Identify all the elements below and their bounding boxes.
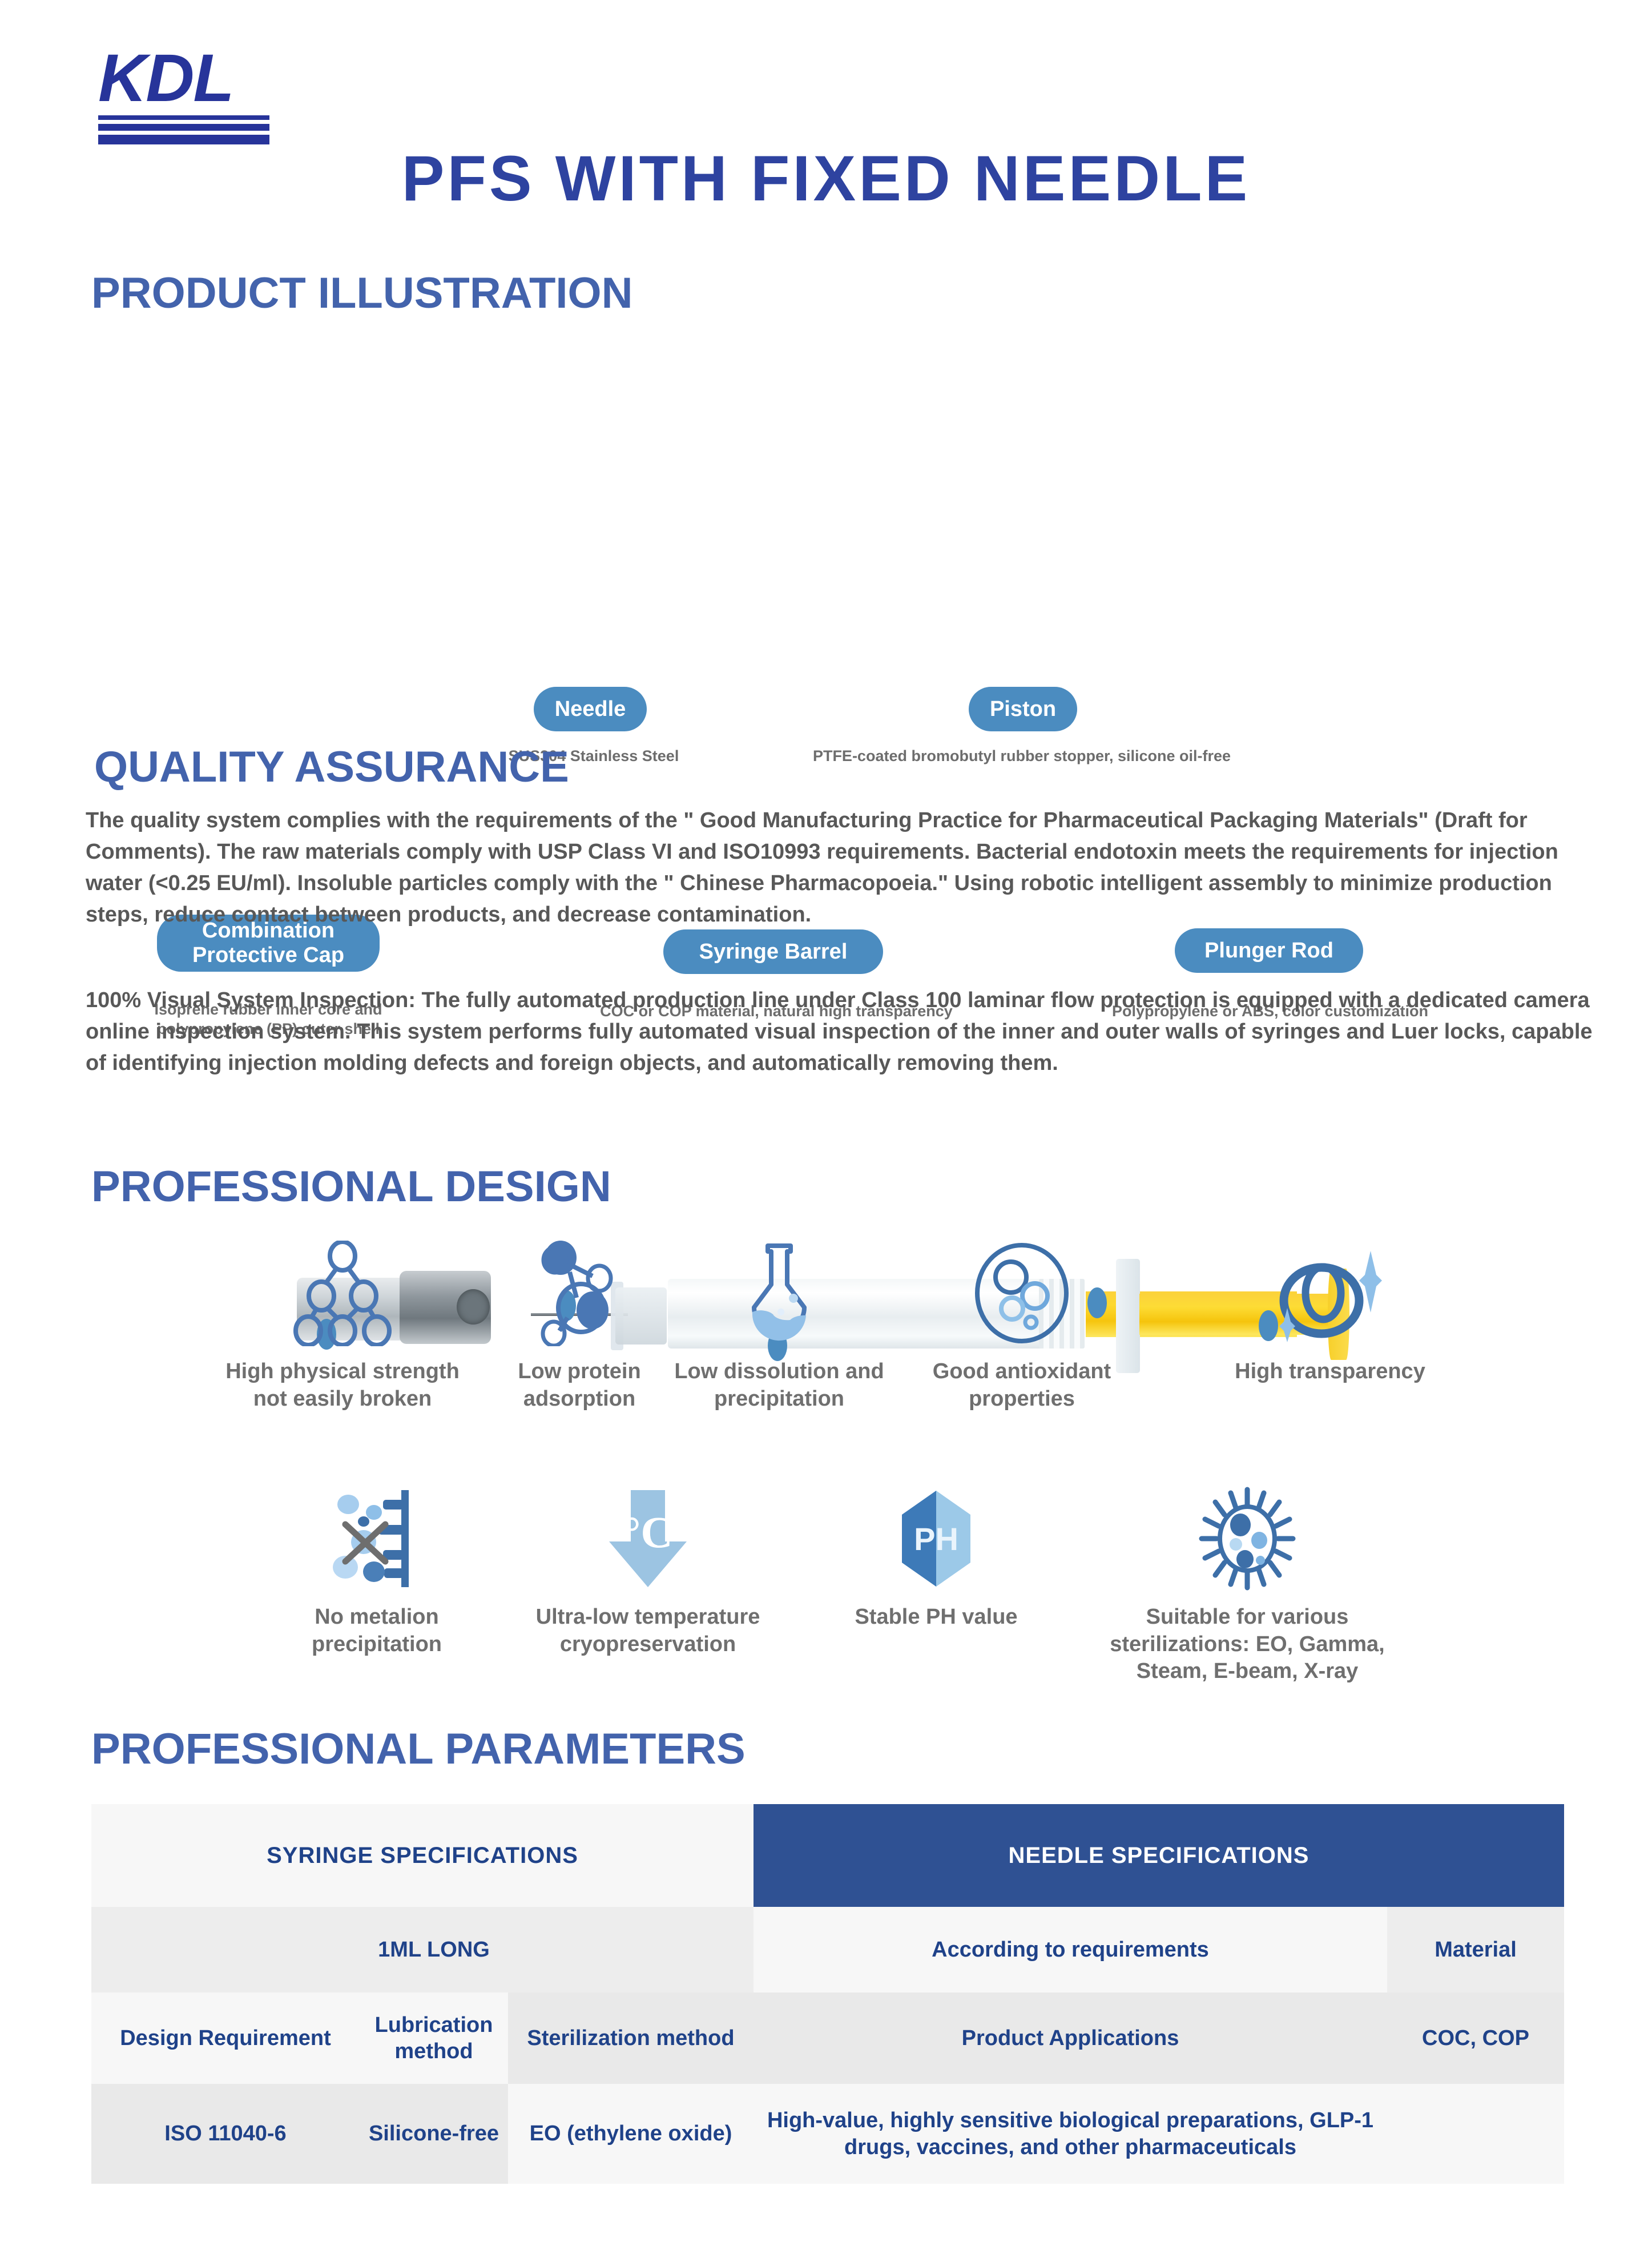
- cell-product-applications-value: High-value, highly sensitive biological …: [754, 2084, 1387, 2184]
- table-header-row: SYRINGE SPECIFICATIONS NEEDLE SPECIFICAT…: [91, 1804, 1564, 1907]
- cell-design-requirement-value: [91, 1907, 360, 1993]
- cell-design-requirement-label: Design Requirement: [91, 1993, 360, 2084]
- section-heading-professional-parameters: PROFESSIONAL PARAMETERS: [91, 1724, 746, 1774]
- feature-label: Low protein adsorption: [477, 1358, 682, 1412]
- temp-icon-text: °C: [623, 1507, 673, 1557]
- part-label-plunger-rod: Plunger Rod: [1175, 928, 1363, 973]
- cell-iso-standard: ISO 11040-6: [91, 2084, 360, 2184]
- table-header-needle: NEEDLE SPECIFICATIONS: [754, 1804, 1564, 1907]
- cell-sterilization-method-label: Sterilization method: [508, 1993, 754, 2084]
- cell-lubrication-method-label: Lubrication method: [360, 1993, 508, 2084]
- feature-ultra-low-temperature: °C Ultra-low temperature cryopreservatio…: [514, 1482, 782, 1658]
- cell-material-header: Material: [1387, 1907, 1564, 1993]
- no-metal-ion-icon: [268, 1482, 485, 1596]
- quality-paragraph-2: 100% Visual System Inspection: The fully…: [86, 985, 1593, 1079]
- feature-label: No metalion precipitation: [268, 1604, 485, 1658]
- cell-needle-requirements: According to requirements: [754, 1907, 1387, 1993]
- feature-low-dissolution-precipitation: Low dissolution and precipitation: [659, 1236, 899, 1412]
- ph-hexagon-icon: PH: [816, 1482, 1056, 1596]
- part-note-piston: PTFE-coated bromobutyl rubber stopper, s…: [811, 747, 1233, 766]
- feature-label: Ultra-low temperature cryopreservation: [514, 1604, 782, 1658]
- feature-no-metal-ion-precipitation: No metalion precipitation: [268, 1482, 485, 1658]
- part-label-needle: Needle: [534, 687, 647, 731]
- feature-label: Suitable for various sterilizations: EO,…: [1096, 1604, 1399, 1685]
- cell-product-applications-label: Product Applications: [754, 1993, 1387, 2084]
- cell-blank-material: [1387, 2084, 1564, 2184]
- microbe-icon: [1096, 1482, 1399, 1596]
- quality-paragraph-1: The quality system complies with the req…: [86, 805, 1593, 931]
- cell-lubrication-value: Silicone-free: [360, 2084, 508, 2184]
- logo-wordmark: KDL: [98, 45, 269, 112]
- flask-icon: [659, 1236, 899, 1350]
- feature-label: Low dissolution and precipitation: [659, 1358, 899, 1412]
- table-row: 1ML LONG According to requirements Mater…: [91, 1907, 1564, 1993]
- protein-molecule-icon: [477, 1236, 682, 1350]
- section-heading-professional-design: PROFESSIONAL DESIGN: [91, 1162, 611, 1211]
- cell-size: 1ML LONG: [360, 1907, 508, 1993]
- product-illustration-block: Needle SUS304 Stainless Steel Piston PTF…: [0, 337, 1652, 714]
- cell-material-value: COC, COP: [1387, 1993, 1564, 2084]
- feature-suitable-sterilizations: Suitable for various sterilizations: EO,…: [1096, 1482, 1399, 1685]
- feature-label: High transparency: [1193, 1358, 1467, 1386]
- feature-label: Stable PH value: [816, 1604, 1056, 1631]
- table-row: Design Requirement Lubrication method St…: [91, 1993, 1564, 2084]
- part-label-syringe-barrel: Syringe Barrel: [663, 929, 883, 974]
- page-title: PFS WITH FIXED NEEDLE: [0, 142, 1652, 215]
- molecule-tree-icon: [188, 1236, 497, 1350]
- poster-page: KDL PFS WITH FIXED NEEDLE PRODUCT ILLUST…: [0, 0, 1652, 2242]
- section-heading-quality-assurance: QUALITY ASSURANCE: [94, 742, 569, 792]
- ph-icon-text: PH: [914, 1521, 958, 1557]
- feature-good-antioxidant: Good antioxidant properties: [899, 1236, 1145, 1412]
- cell-sterilization-value: EO (ethylene oxide): [508, 2084, 754, 2184]
- bubbles-circle-icon: [899, 1236, 1145, 1350]
- feature-high-transparency: High transparency: [1193, 1236, 1467, 1386]
- cell-blank-sterilization: [508, 1907, 754, 1993]
- temperature-down-arrow-icon: °C: [514, 1482, 782, 1596]
- feature-label: Good antioxidant properties: [899, 1358, 1145, 1412]
- parameters-table: SYRINGE SPECIFICATIONS NEEDLE SPECIFICAT…: [91, 1804, 1564, 2184]
- table-header-syringe: SYRINGE SPECIFICATIONS: [91, 1804, 754, 1907]
- feature-low-protein-adsorption: Low protein adsorption: [477, 1236, 682, 1412]
- feature-label: High physical strength not easily broken: [188, 1358, 497, 1412]
- kdl-logo: KDL: [98, 45, 269, 136]
- part-label-piston: Piston: [969, 687, 1077, 731]
- section-heading-illustration: PRODUCT ILLUSTRATION: [91, 268, 633, 318]
- table-row: ISO 11040-6 Silicone-free EO (ethylene o…: [91, 2084, 1564, 2184]
- feature-stable-ph-value: PH Stable PH value: [816, 1482, 1056, 1631]
- feature-high-physical-strength: High physical strength not easily broken: [188, 1236, 497, 1412]
- logo-underline-bars: [98, 115, 269, 144]
- eye-sparkle-icon: [1193, 1236, 1467, 1350]
